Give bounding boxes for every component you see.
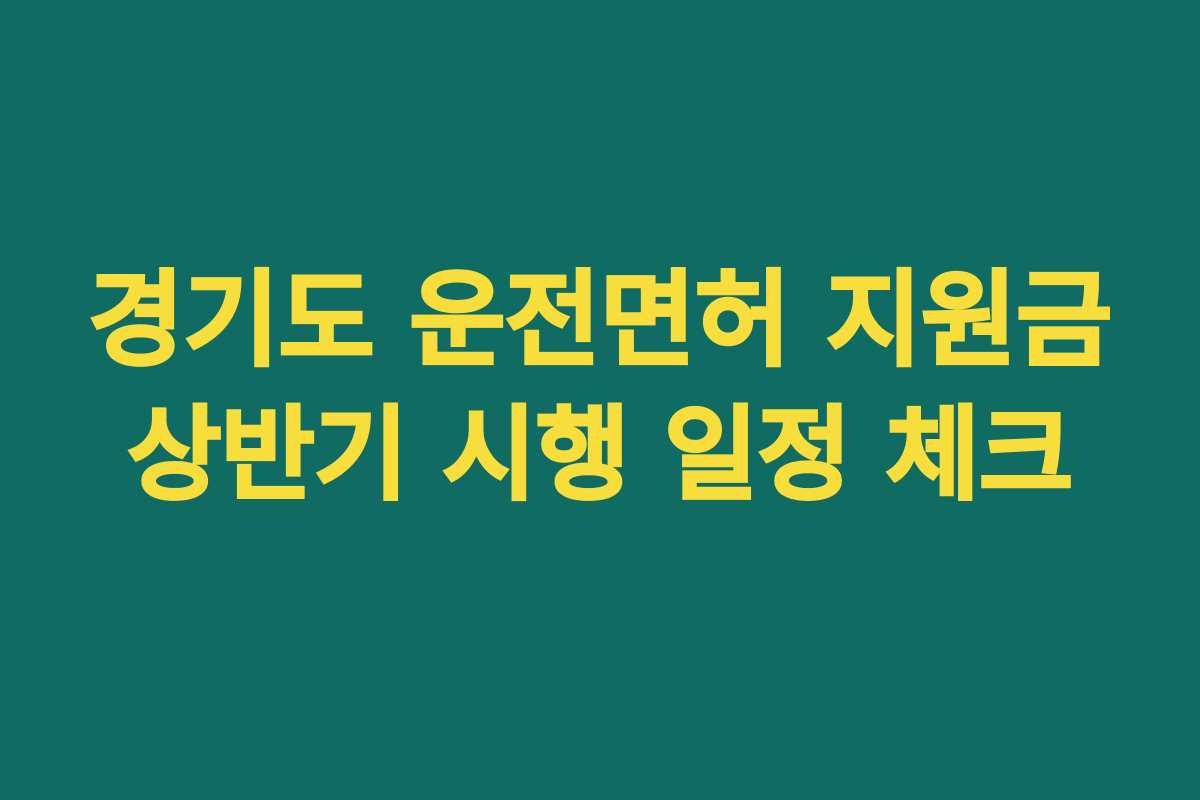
headline-block: 경기도 운전면허 지원금 상반기 시행 일정 체크 <box>0 252 1200 524</box>
banner-canvas: 경기도 운전면허 지원금 상반기 시행 일정 체크 <box>0 0 1200 800</box>
headline-line-1: 경기도 운전면허 지원금 <box>40 252 1160 389</box>
headline-line-2: 상반기 시행 일정 체크 <box>40 389 1160 524</box>
